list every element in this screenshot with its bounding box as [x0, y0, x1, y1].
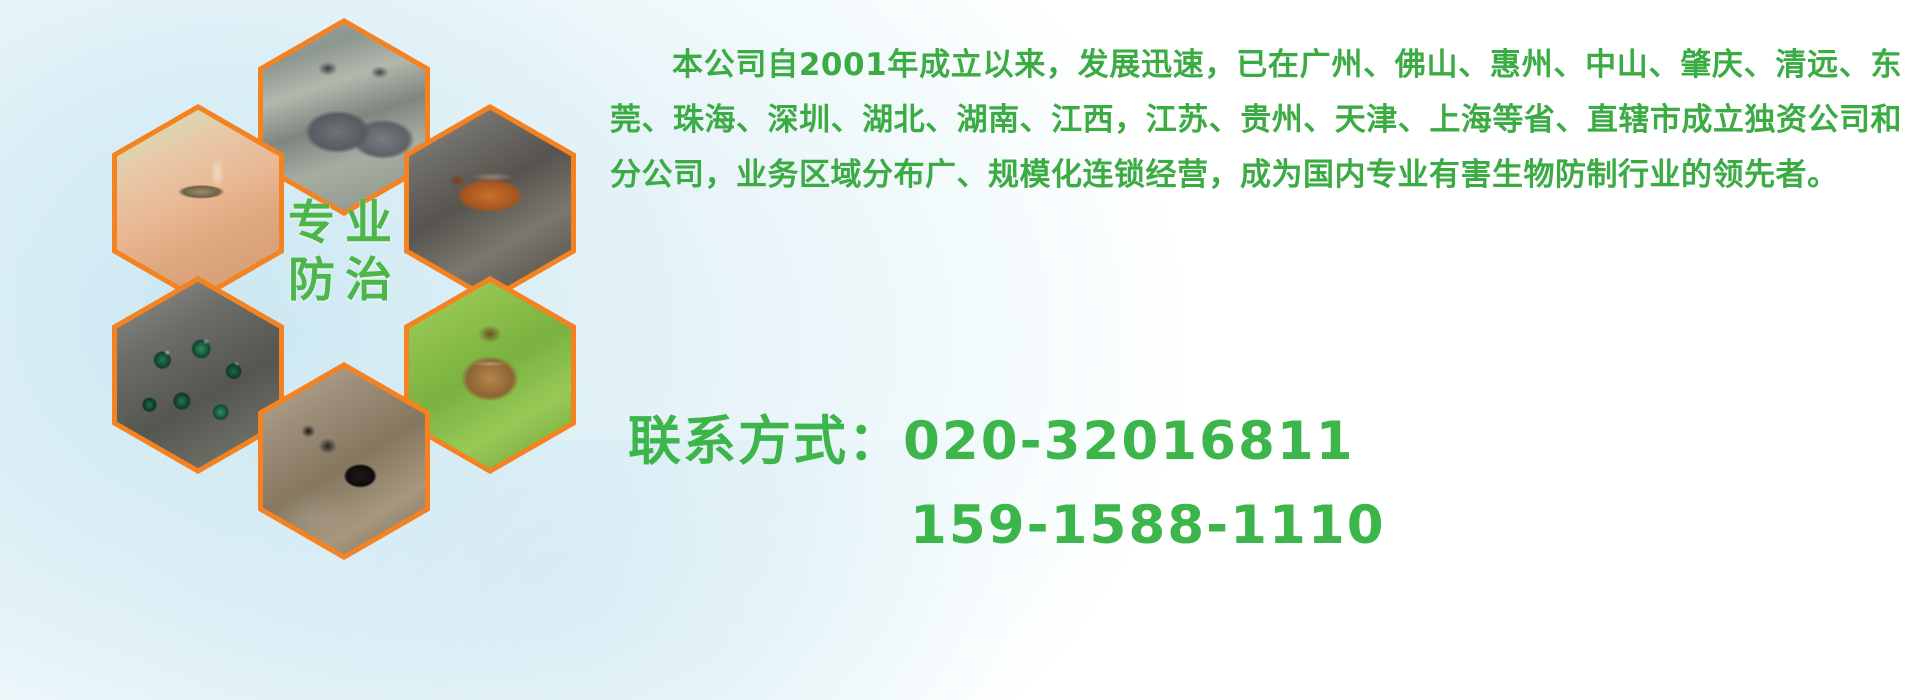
flies-image: [117, 282, 279, 468]
hex-photo-rodents-frame: [263, 24, 425, 210]
company-intro-paragraph: 本公司自2001年成立以来，发展迅速，已在广州、佛山、惠州、中山、肇庆、清远、东…: [610, 38, 1910, 203]
hex-photo-flies-frame: [117, 282, 279, 468]
mosquito-image: [117, 110, 279, 296]
banner-content: 本公司自2001年成立以来，发展迅速，已在广州、佛山、惠州、中山、肇庆、清远、东…: [610, 0, 1910, 700]
contact-phone-primary[interactable]: 联系方式：020-32016811: [610, 400, 1910, 484]
contact-phone-secondary[interactable]: 159-1588-1110: [610, 484, 1910, 568]
hex-photo-ant-frame: [263, 368, 425, 554]
rodent-image: [263, 24, 425, 210]
cockroach-image: [409, 110, 571, 296]
contact-block: 联系方式：020-32016811 159-1588-1110: [610, 400, 1910, 568]
hex-photo-cockroach-frame: [409, 110, 571, 296]
stinkbug-image: [409, 282, 571, 468]
ant-image: [263, 368, 425, 554]
pest-control-banner: 专业 防治 本公司自2001年成立以来，发展迅速，已在广州、佛山、惠州、中山、肇…: [0, 0, 1920, 700]
hexagon-photo-cluster: [90, 18, 590, 563]
hex-photo-mosquito-frame: [117, 110, 279, 296]
hex-photo-stinkbug-frame: [409, 282, 571, 468]
